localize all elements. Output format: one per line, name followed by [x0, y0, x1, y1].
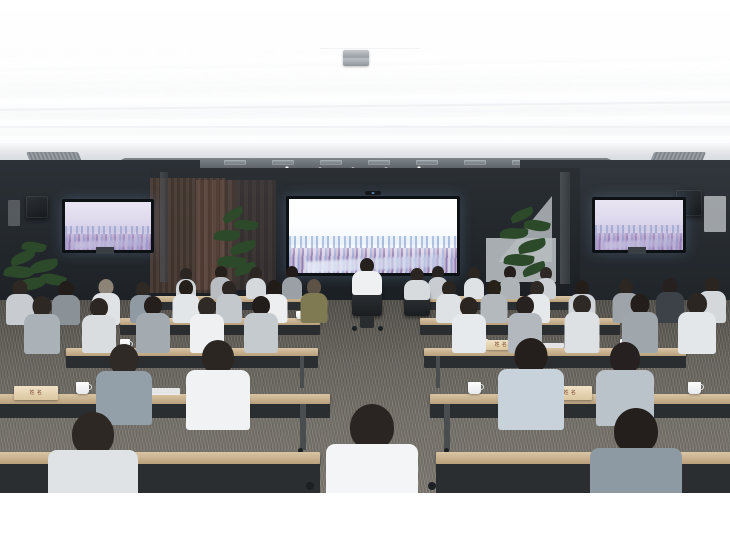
left-display-mount	[96, 247, 114, 254]
torso	[498, 369, 564, 430]
desk-leg	[436, 356, 440, 388]
desk-front	[436, 464, 730, 493]
attendee	[678, 293, 716, 352]
screen-tint	[595, 200, 683, 250]
ceiling-vent	[464, 160, 486, 165]
attendee	[300, 279, 327, 322]
ceiling-vent	[416, 160, 438, 165]
desk-leg	[444, 404, 450, 450]
wall-plate-right	[704, 196, 726, 232]
coffee-mug	[468, 382, 481, 394]
ceiling-seam	[320, 48, 420, 49]
chair-base	[360, 316, 374, 328]
presenter	[352, 258, 382, 294]
placard-text: 姓 名	[564, 391, 577, 396]
wall-plate-left	[8, 200, 20, 226]
coffee-mug	[76, 382, 89, 394]
attendee-front-row	[326, 404, 418, 493]
wall-speaker-left	[26, 196, 48, 218]
desk-row5-right	[436, 452, 730, 464]
desk-leg	[300, 404, 306, 450]
head	[202, 340, 234, 374]
document	[150, 388, 180, 395]
attendee	[498, 338, 564, 426]
desk-leg	[300, 356, 304, 388]
pillar-left	[160, 172, 168, 282]
attendee-front-row	[590, 408, 682, 493]
left-screen-image	[65, 202, 151, 250]
attendee-front-row	[48, 412, 138, 493]
camera-bar-icon	[365, 191, 381, 195]
head	[515, 338, 548, 373]
placard-text: 姓 名	[30, 391, 43, 396]
torso	[326, 444, 418, 493]
attendee	[564, 295, 599, 352]
attendee	[96, 344, 152, 422]
attendee	[452, 297, 486, 352]
left-side-display[interactable]	[62, 199, 154, 253]
torso	[186, 370, 250, 430]
screenshot-root: 姓 名	[0, 0, 730, 548]
ceiling-vent	[368, 160, 390, 165]
right-screen-image	[595, 200, 683, 250]
ceiling-vent	[272, 160, 294, 165]
ceiling-vent	[224, 160, 246, 165]
ceiling-vent	[320, 160, 342, 165]
light-edge	[0, 126, 730, 128]
attendee	[186, 340, 250, 426]
attendee	[404, 268, 430, 298]
light-strip	[0, 136, 730, 143]
screen-tint	[65, 202, 151, 250]
desk-front	[430, 404, 730, 418]
coffee-mug	[688, 382, 701, 394]
torso	[352, 271, 382, 295]
pillar-right	[560, 172, 570, 284]
name-placard-left: 姓 名	[14, 386, 58, 400]
ceiling	[0, 0, 730, 176]
light-strip	[0, 71, 730, 87]
attendee	[24, 296, 60, 353]
right-display-mount	[628, 247, 646, 254]
ceiling-projector	[343, 50, 369, 66]
conference-room-photo: 姓 名	[0, 0, 730, 493]
letterbox-bottom	[0, 493, 730, 548]
right-side-display[interactable]	[592, 197, 686, 253]
